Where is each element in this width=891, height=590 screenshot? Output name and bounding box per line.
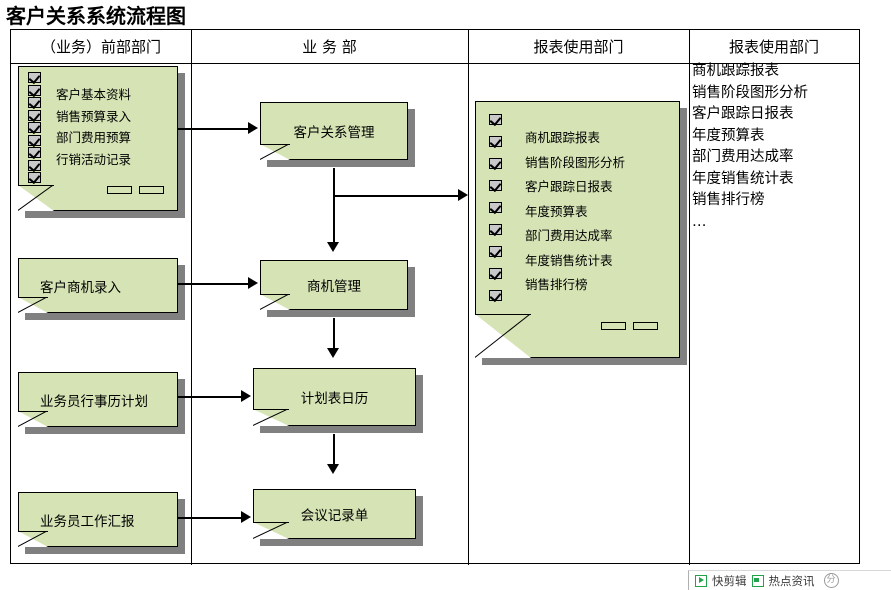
arrow-head-right <box>241 511 251 523</box>
check-icon <box>489 224 502 235</box>
connector-calendar-down <box>333 434 335 468</box>
left-box-customer-opportunity[interactable]: 客户商机录入 <box>18 258 178 313</box>
arrow-head-down <box>327 464 339 474</box>
report-text-item: 销售排行榜 <box>692 190 857 212</box>
document-button[interactable] <box>633 322 658 330</box>
toolbar-item-kuaijianji[interactable]: 快剪辑 <box>712 573 747 589</box>
document-button-row[interactable] <box>601 322 658 330</box>
connector-to-report-doc <box>333 195 461 197</box>
arrow-head-right <box>241 390 251 402</box>
arrow-head-right <box>248 122 258 134</box>
check-icon <box>489 246 502 257</box>
folded-corner-line <box>18 411 48 427</box>
process-box-schedule-calendar[interactable]: 计划表日历 <box>253 368 416 426</box>
check-icon <box>28 85 41 96</box>
column-divider-3 <box>689 30 690 565</box>
report-item: 销售阶段图形分析 <box>525 151 625 176</box>
checkbox-column <box>28 72 41 185</box>
column-header-report-dept-2: 报表使用部门 <box>689 35 859 61</box>
connector-crm-down <box>333 168 335 248</box>
check-icon <box>489 268 502 279</box>
connector-calendar-input <box>178 396 243 398</box>
folded-corner-line <box>253 409 289 426</box>
document-button[interactable] <box>107 186 132 194</box>
column-header-business-dept: 业 务 部 <box>191 35 468 61</box>
input-item: 行销活动记录 <box>56 149 131 171</box>
check-icon <box>28 97 41 108</box>
report-item: 商机跟踪报表 <box>525 126 625 151</box>
page-title: 客户关系系统流程图 <box>6 0 186 29</box>
process-box-opportunity-mgmt[interactable]: 商机管理 <box>260 260 408 310</box>
check-icon <box>489 202 502 213</box>
check-icon <box>28 147 41 158</box>
folded-corner-line <box>475 314 531 358</box>
bottom-toolbar[interactable]: 快剪辑 热点资讯 分 <box>688 570 891 590</box>
folded-corner-line <box>18 185 54 211</box>
report-item: 销售排行榜 <box>525 273 625 298</box>
left-box-salesperson-report[interactable]: 业务员工作汇报 <box>18 492 178 547</box>
arrow-head-down <box>327 242 339 252</box>
folded-corner-line <box>260 294 290 310</box>
flowchart-page: 客户关系系统流程图 （业务）前部部门 业 务 部 报表使用部门 报表使用部门 商… <box>0 0 891 590</box>
play-icon[interactable] <box>695 575 707 587</box>
check-icon <box>28 110 41 121</box>
report-item: 客户跟踪日报表 <box>525 175 625 200</box>
process-box-meeting-record[interactable]: 会议记录单 <box>253 489 416 539</box>
share-icon[interactable]: 分 <box>824 573 839 588</box>
input-item: 客户基本资料 <box>56 84 131 106</box>
report-text-list: 商机跟踪报表 销售阶段图形分析 客户跟踪日报表 年度预算表 部门费用达成率 年度… <box>692 61 857 233</box>
folded-corner-line <box>18 297 48 313</box>
report-text-ellipsis: … <box>692 212 857 234</box>
folded-corner-line <box>260 144 290 160</box>
checkbox-column <box>489 114 502 312</box>
check-icon <box>489 114 502 125</box>
process-box-crm[interactable]: 客户关系管理 <box>260 102 408 160</box>
connector-meeting-input <box>178 517 243 519</box>
report-output-document[interactable]: 商机跟踪报表 销售阶段图形分析 客户跟踪日报表 年度预算表 部门费用达成率 年度… <box>475 101 680 358</box>
document-button[interactable] <box>601 322 626 330</box>
connector-opportunity-down <box>333 318 335 352</box>
arrow-head-down <box>327 348 339 358</box>
check-icon <box>28 72 41 83</box>
check-icon <box>28 135 41 146</box>
report-item: 年度预算表 <box>525 200 625 225</box>
report-text-item: 销售阶段图形分析 <box>692 83 857 105</box>
report-item: 年度销售统计表 <box>525 249 625 274</box>
report-text-item: 年度销售统计表 <box>692 169 857 191</box>
connector-opportunity-input <box>178 283 250 285</box>
input-item: 销售预算录入 <box>56 106 131 128</box>
news-icon[interactable] <box>752 575 764 587</box>
report-text-item: 年度预算表 <box>692 126 857 148</box>
report-text-item: 客户跟踪日报表 <box>692 104 857 126</box>
column-divider-1 <box>191 30 192 565</box>
document-button[interactable] <box>139 186 164 194</box>
report-item-list: 商机跟踪报表 销售阶段图形分析 客户跟踪日报表 年度预算表 部门费用达成率 年度… <box>525 126 625 298</box>
column-header-front-office: （业务）前部部门 <box>11 35 191 61</box>
check-icon <box>489 180 502 191</box>
folded-corner-line <box>18 531 48 547</box>
check-icon <box>28 160 41 171</box>
arrow-head-right <box>458 189 468 201</box>
report-item: 部门费用达成率 <box>525 224 625 249</box>
report-text-item: 部门费用达成率 <box>692 147 857 169</box>
toolbar-item-hotnews[interactable]: 热点资讯 <box>769 573 815 589</box>
arrow-head-right <box>248 277 258 289</box>
column-divider-2 <box>468 30 469 565</box>
check-icon <box>28 122 41 133</box>
input-item: 部门费用预算 <box>56 127 131 149</box>
document-button-row[interactable] <box>107 186 164 194</box>
folded-corner-line <box>253 522 289 539</box>
left-box-salesperson-calendar[interactable]: 业务员行事历计划 <box>18 372 178 427</box>
connector-input-to-crm <box>178 128 250 130</box>
column-header-report-dept-1: 报表使用部门 <box>468 35 689 61</box>
report-text-item: 商机跟踪报表 <box>692 61 857 83</box>
check-icon <box>489 136 502 147</box>
check-icon <box>489 290 502 301</box>
check-icon <box>28 172 41 183</box>
input-item-list: 客户基本资料 销售预算录入 部门费用预算 行销活动记录 <box>56 84 131 170</box>
check-icon <box>489 158 502 169</box>
input-data-document[interactable]: 客户基本资料 销售预算录入 部门费用预算 行销活动记录 <box>18 66 178 211</box>
